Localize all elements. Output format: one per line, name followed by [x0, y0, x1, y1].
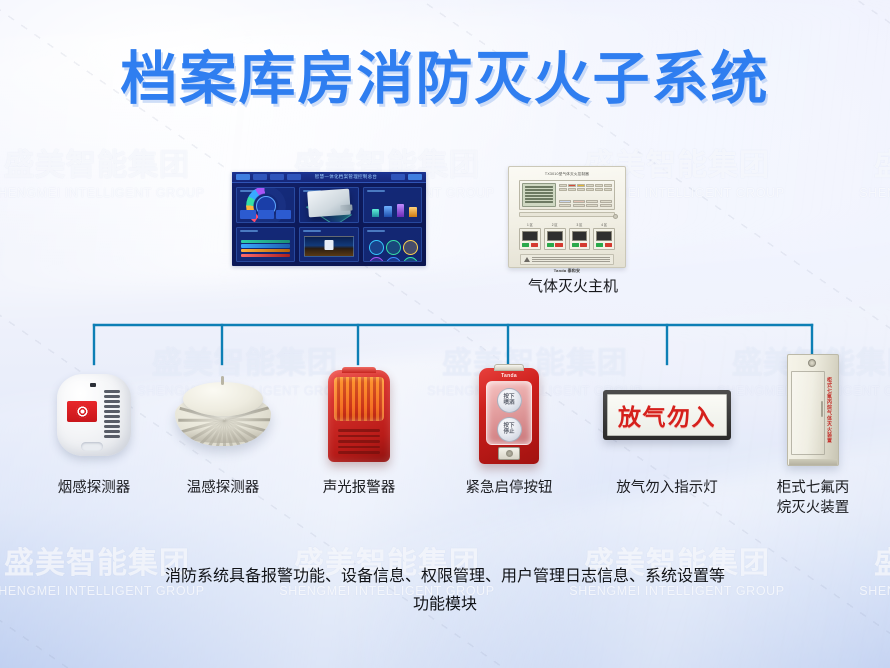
device-caption: 紧急启停按钮: [444, 478, 574, 498]
dashboard-tab-monitor[interactable]: [253, 174, 267, 180]
host-zone[interactable]: 1 区: [519, 222, 541, 250]
footer-line-2: 功能模块: [0, 590, 890, 618]
heat-row: [241, 254, 290, 257]
zone-green-button[interactable]: [596, 243, 603, 247]
dashboard-card-video: [299, 227, 358, 263]
zone-window: [522, 231, 538, 241]
zone-buttons[interactable]: [522, 243, 538, 247]
sound-light-alarm-icon: [328, 370, 390, 462]
heat-detector-pin: [221, 376, 224, 385]
smoke-brand-label: [67, 401, 97, 422]
heatmap: [241, 240, 290, 258]
warning-text-lines: [532, 257, 610, 262]
gas-host-caption: 气体灭火主机: [515, 275, 631, 296]
zone-window: [547, 231, 563, 241]
device-caption: 烟感探测器: [29, 478, 159, 498]
smoke-test-button[interactable]: [81, 442, 103, 451]
zone-buttons[interactable]: [572, 243, 588, 247]
footer-note: 消防系统具备报警功能、设备信息、权限管理、用户管理日志信息、系统设置等 功能模块: [0, 562, 890, 618]
device-smoke-detector: 烟感探测器: [37, 360, 151, 456]
host-lcd-display: [522, 183, 556, 207]
zone-module[interactable]: [544, 228, 566, 250]
dashboard-tab-home[interactable]: [236, 174, 250, 180]
zone-red-button[interactable]: [580, 243, 587, 247]
estop-start-knob[interactable]: 按下 喷洒: [497, 388, 522, 413]
cabinet-pressure-gauge: [808, 359, 816, 367]
smoke-led: [90, 383, 96, 387]
heat-row: [241, 240, 290, 243]
estop-mount-tab: [494, 364, 524, 371]
zone-red-button[interactable]: [531, 243, 538, 247]
dashboard-card-icons: [363, 227, 422, 263]
device-gas-release-light: 放气勿入 放气勿入指示灯: [600, 360, 734, 440]
function-icon[interactable]: [403, 257, 418, 263]
console-dashboard-image: 智慧一体化档案管理控制总台: [232, 172, 426, 266]
host-label-strip: [519, 212, 615, 217]
sign-face: 放气勿入: [607, 394, 727, 436]
sign-text: 放气勿入: [618, 398, 716, 432]
zone-module[interactable]: [569, 228, 591, 250]
function-icon[interactable]: [403, 240, 418, 255]
stat-pill: [240, 210, 256, 219]
cabinet-extinguisher-icon: 柜式七氟丙烷气体灭火装置: [787, 354, 839, 466]
zone-label: 2 区: [544, 222, 566, 227]
zone-red-button[interactable]: [605, 243, 612, 247]
bar: [384, 206, 392, 216]
host-brand-label: Tanda 泰和安: [515, 268, 619, 274]
estop-cover[interactable]: 按下 喷洒 按下 停止: [486, 381, 532, 445]
function-icon[interactable]: [369, 257, 384, 263]
zone-green-button[interactable]: [522, 243, 529, 247]
smoke-detector-icon: [57, 374, 131, 456]
device-caption: 温感探测器: [158, 478, 288, 498]
device-heat-detector: 温感探测器: [166, 360, 280, 456]
cabinet-door[interactable]: [791, 371, 825, 455]
host-zone[interactable]: 2 区: [544, 222, 566, 250]
cabinet-label-text: 柜式七氟丙烷气体灭火装置: [821, 377, 831, 443]
zone-window: [596, 231, 612, 241]
function-icon[interactable]: [386, 240, 401, 255]
video-feed[interactable]: [304, 236, 353, 258]
gas-host-image: TX3010型气体灭火控制器 1 区: [508, 166, 626, 268]
host-keypad[interactable]: [559, 200, 612, 208]
estop-stop-knob[interactable]: 按下 停止: [497, 417, 522, 442]
heat-detector-icon: [175, 376, 271, 456]
gauge-stat-pills: [240, 210, 291, 219]
zone-buttons[interactable]: [547, 243, 563, 247]
bar: [397, 204, 405, 217]
smoke-vent-slots: [104, 390, 120, 438]
dashboard-time-chip: [408, 174, 422, 180]
function-icon[interactable]: [369, 240, 384, 255]
dashboard-card-3d-model: [299, 187, 358, 223]
zone-label: 1 区: [519, 222, 541, 227]
heat-detector-dome: [183, 382, 263, 416]
model-cabinet: [307, 188, 351, 217]
bar: [372, 209, 380, 217]
function-icon[interactable]: [386, 257, 401, 263]
host-zone[interactable]: 4 区: [593, 222, 615, 250]
stat-pill: [276, 210, 292, 219]
stat-pill: [258, 210, 274, 219]
zone-green-button[interactable]: [572, 243, 579, 247]
host-model-label: TX3010型气体灭火控制器: [515, 172, 619, 177]
lcd-text-lines: [523, 184, 555, 205]
dashboard-card-heatmap: [236, 227, 295, 263]
host-zone-modules: 1 区 2 区: [519, 222, 615, 250]
zone-window: [572, 231, 588, 241]
device-caption: 声光报警器: [294, 478, 424, 498]
alarm-speaker-grill: [334, 429, 384, 454]
dashboard-card-bars: [363, 187, 422, 223]
dashboard-tab-alarm[interactable]: [270, 174, 284, 180]
device-sound-light-alarm: 声光报警器: [302, 360, 416, 462]
zone-module[interactable]: [519, 228, 541, 250]
estop-key-lock[interactable]: [498, 447, 520, 460]
host-control-panel: [519, 180, 615, 210]
footer-line-1: 消防系统具备报警功能、设备信息、权限管理、用户管理日志信息、系统设置等: [0, 562, 890, 590]
zone-red-button[interactable]: [555, 243, 562, 247]
alarm-strobe-lens: [334, 377, 384, 421]
dashboard-user-chip[interactable]: [391, 174, 405, 180]
device-cabinet-extinguisher: 柜式七氟丙烷气体灭火装置 柜式七氟丙 烷灭火装置: [756, 352, 870, 466]
dashboard-title: 智慧一体化档案管理控制总台: [304, 174, 388, 180]
dashboard-card-gauge: [236, 187, 295, 223]
poster-canvas: 盛美智能集团 SHENGMEI INTELLIGENT GROUP 盛美智能集团…: [0, 0, 890, 668]
dashboard-body: [232, 183, 426, 266]
host-warning-plate: [520, 254, 614, 265]
emergency-button-icon: Tanda 按下 喷洒 按下 停止: [479, 368, 539, 464]
cabinet-base: [789, 459, 837, 465]
zone-buttons[interactable]: [596, 243, 612, 247]
gas-release-sign-icon: 放气勿入: [603, 390, 731, 440]
function-icon-grid: [367, 238, 418, 259]
page-title-wrap: 档案库房消防灭火子系统: [0, 48, 890, 111]
bar-chart: [372, 200, 417, 217]
dashboard-tab-settings[interactable]: [287, 174, 301, 180]
zone-module[interactable]: [593, 228, 615, 250]
bar: [409, 207, 417, 216]
zone-label: 4 区: [593, 222, 615, 227]
zone-label: 3 区: [569, 222, 591, 227]
host-indicator-dot: [613, 214, 618, 219]
alarm-mount-tab: [342, 367, 376, 373]
estop-brand-label: Tanda: [483, 373, 535, 379]
heat-detector-ring: [181, 427, 265, 443]
warning-triangle-icon: [524, 257, 530, 262]
heat-row: [241, 249, 290, 252]
device-caption: 柜式七氟丙 烷灭火装置: [748, 478, 878, 518]
page-title: 档案库房消防灭火子系统: [0, 48, 890, 111]
host-led-indicators: [559, 183, 612, 198]
heat-row: [241, 244, 290, 247]
dashboard-topbar: 智慧一体化档案管理控制总台: [232, 172, 426, 183]
device-caption: 放气勿入指示灯: [602, 478, 732, 498]
host-zone[interactable]: 3 区: [569, 222, 591, 250]
device-emergency-button: Tanda 按下 喷洒 按下 停止 紧急启停按钮: [452, 360, 566, 464]
zone-green-button[interactable]: [547, 243, 554, 247]
